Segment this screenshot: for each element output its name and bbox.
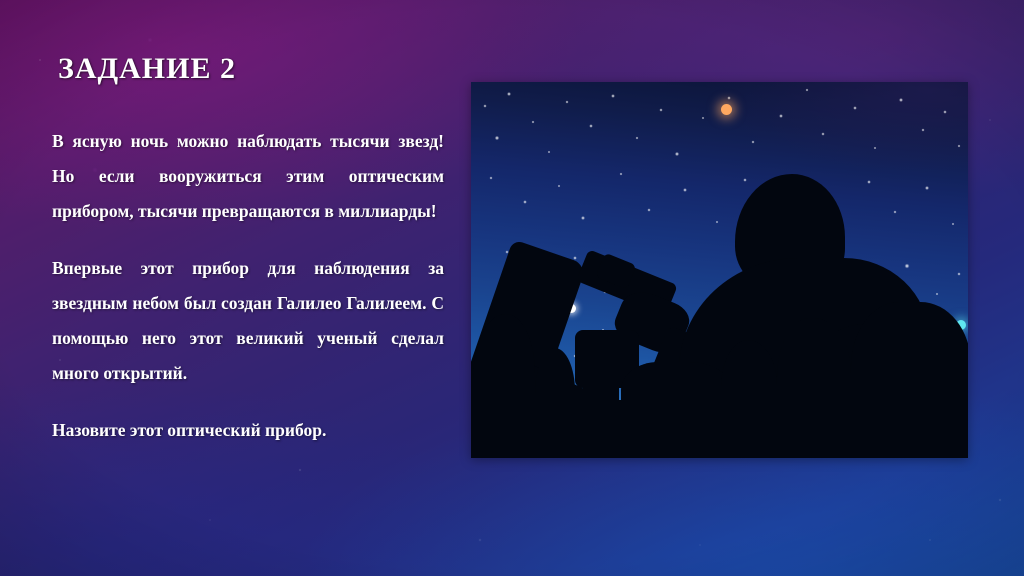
body-paragraph-1: В ясную ночь можно наблюдать тысячи звез… (52, 124, 444, 229)
ground-silhouette (471, 400, 968, 458)
tree-silhouette-far-right (851, 302, 968, 414)
telescope-photo (471, 82, 968, 458)
body-paragraph-3: Назовите этот оптический прибор. (52, 413, 444, 448)
presentation-slide: ЗАДАНИЕ 2 В ясную ночь можно наблюдать т… (0, 0, 1024, 576)
star-orange (721, 104, 732, 115)
page-title: ЗАДАНИЕ 2 (58, 52, 444, 86)
body-paragraph-2: Впервые этот прибор для наблюдения за зв… (52, 251, 444, 391)
text-column: ЗАДАНИЕ 2 В ясную ночь можно наблюдать т… (52, 52, 444, 448)
